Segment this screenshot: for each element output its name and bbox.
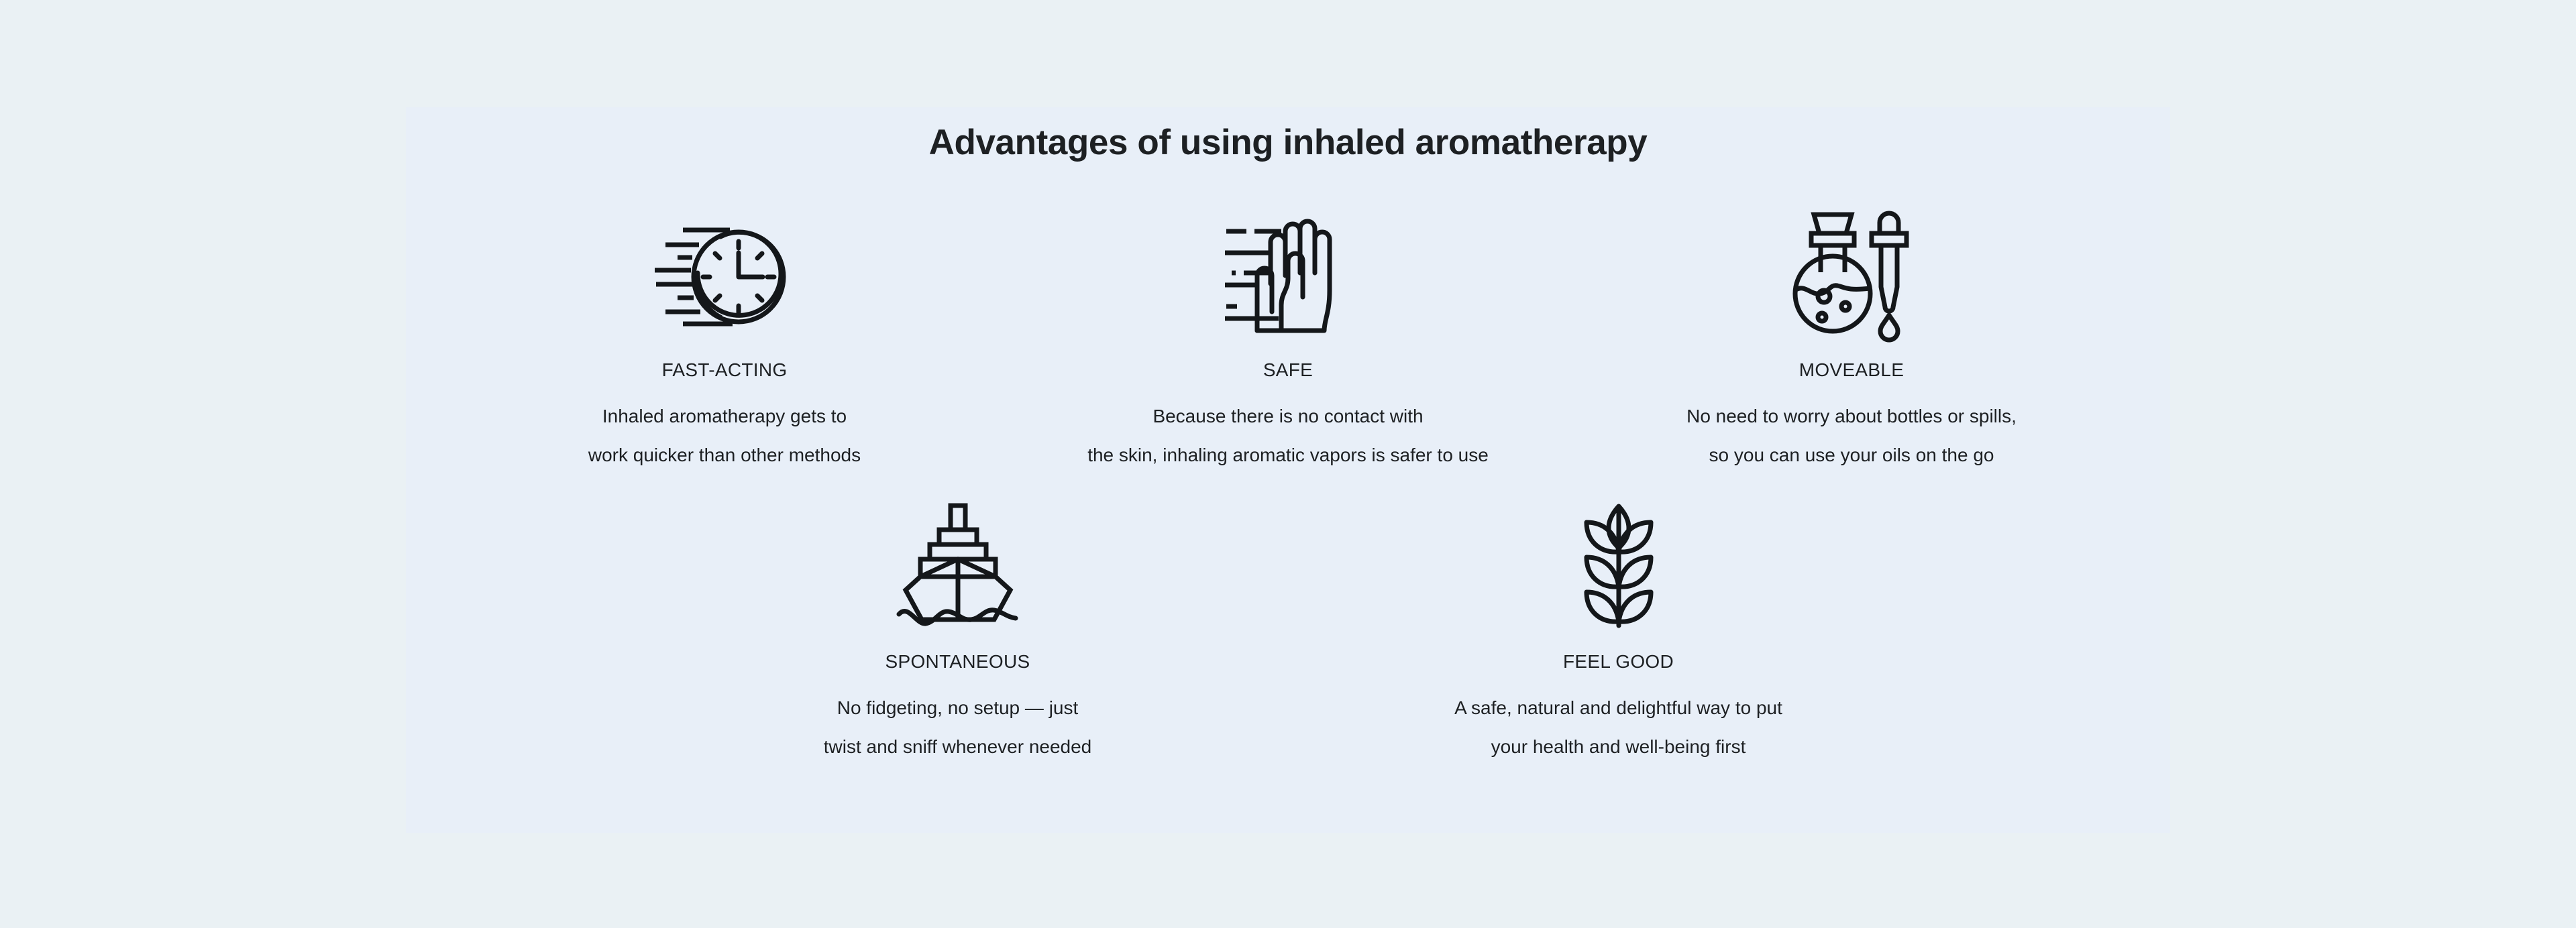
feature-description: Because there is no contact with the ski… [1087,397,1489,475]
feature-card-safe: SAFE Because there is no contact with th… [1006,208,1570,475]
feature-card-feel-good: FEEL GOOD A safe, natural and delightful… [1288,500,1949,766]
flask-dropper-icon [1784,208,1919,335]
page-title: Advantages of using inhaled aromatherapy [406,122,2170,164]
ship-icon [898,500,1018,627]
feature-row-1: FAST-ACTING Inhaled aromatherapy gets to… [406,208,2170,475]
feature-card-moveable: MOVEABLE No need to worry about bottles … [1570,208,2133,475]
wheat-sprig-icon [1568,500,1669,627]
feature-description: No fidgeting, no setup — just twist and … [824,689,1092,766]
feature-card-spontaneous: SPONTANEOUS No fidgeting, no setup — jus… [627,500,1288,766]
feature-row-2: SPONTANEOUS No fidgeting, no setup — jus… [406,500,2170,766]
feature-card-fast-acting: FAST-ACTING Inhaled aromatherapy gets to… [443,208,1006,475]
waving-hand-icon [1214,208,1362,335]
advantages-panel: Advantages of using inhaled aromatherapy [406,107,2170,833]
feature-description: A safe, natural and delightful way to pu… [1454,689,1782,766]
feature-title: FAST-ACTING [662,361,788,380]
feature-title: FEEL GOOD [1563,652,1674,671]
feature-description: No need to worry about bottles or spills… [1686,397,2017,475]
feature-title: SAFE [1263,361,1313,380]
feature-grid: FAST-ACTING Inhaled aromatherapy gets to… [406,208,2170,766]
page-root: Advantages of using inhaled aromatherapy [0,0,2576,928]
fast-clock-icon [651,208,798,335]
feature-title: MOVEABLE [1799,361,1904,380]
feature-title: SPONTANEOUS [885,652,1030,671]
feature-description: Inhaled aromatherapy gets to work quicke… [588,397,861,475]
